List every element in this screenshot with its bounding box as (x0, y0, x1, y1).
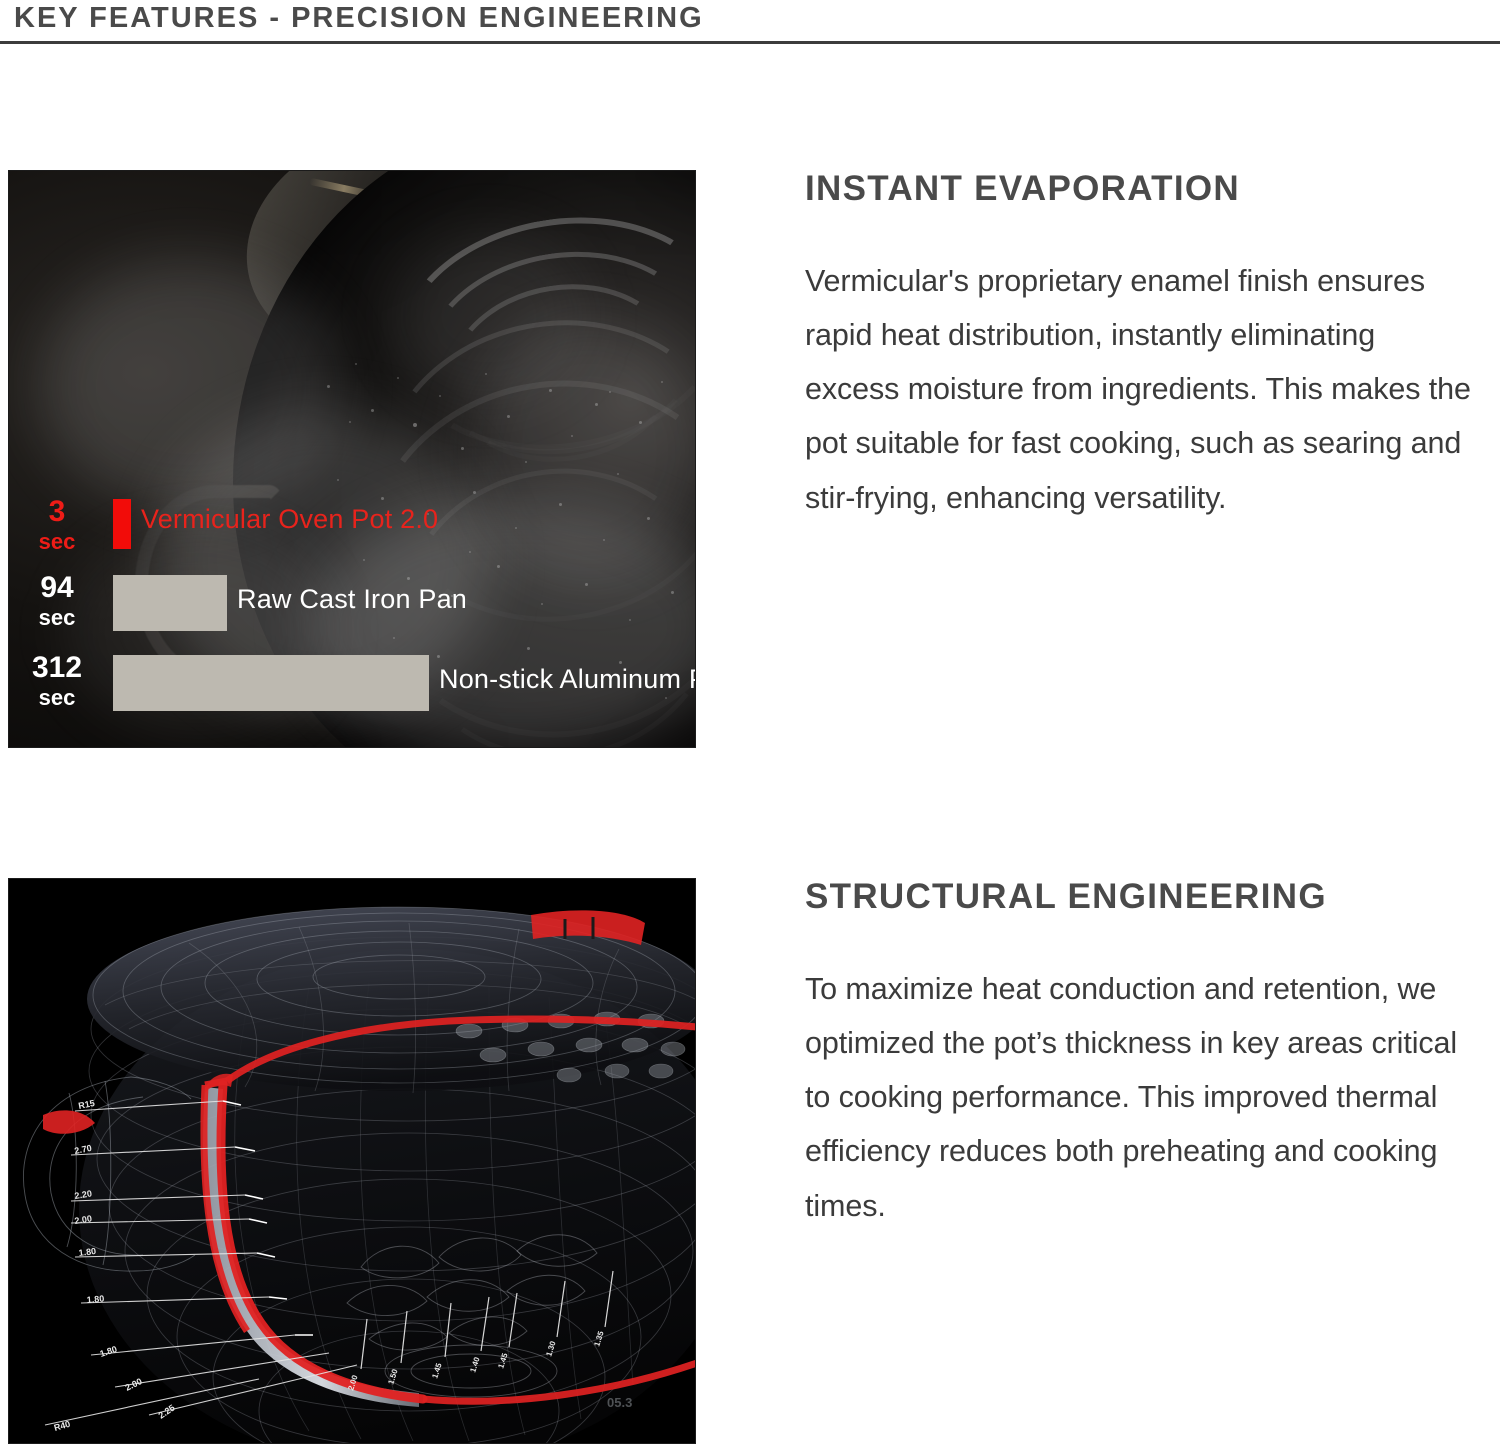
chart-bar-row: 3 sec Vermicular Oven Pot 2.0 (9, 493, 696, 555)
bar-value-label: 312 sec (9, 653, 105, 709)
water-droplet (355, 363, 357, 365)
bar-fill (113, 575, 227, 631)
feature-image-cad-wireframe: R15 2.70 2.20 2.00 1.80 1.80 1.80 2.00 2… (8, 878, 696, 1444)
feature-page: KEY FEATURES - PRECISION ENGINEERING (0, 0, 1500, 1444)
cad-scene: R15 2.70 2.20 2.00 1.80 1.80 1.80 2.00 2… (9, 879, 695, 1443)
feature-image-steaming-pot: 3 sec Vermicular Oven Pot 2.0 94 sec (8, 170, 696, 748)
water-droplet (371, 409, 374, 412)
water-droplet (397, 377, 399, 379)
section-heading: INSTANT EVAPORATION (805, 170, 1477, 209)
water-droplet (413, 423, 417, 427)
feature-section-instant-evaporation: 3 sec Vermicular Oven Pot 2.0 94 sec (0, 170, 1500, 750)
page-title: KEY FEATURES - PRECISION ENGINEERING (14, 2, 704, 35)
bar-value-number: 3 (9, 497, 105, 527)
page-header: KEY FEATURES - PRECISION ENGINEERING (0, 0, 1500, 48)
water-droplet (461, 447, 464, 450)
bar-value-unit: sec (9, 687, 105, 709)
bar-fill (113, 655, 429, 711)
svg-text:1.80: 1.80 (78, 1246, 97, 1258)
bar-value-unit: sec (9, 607, 105, 629)
steam-puff (389, 231, 589, 401)
bar-category-label: Vermicular Oven Pot 2.0 (141, 504, 438, 535)
section-heading: STRUCTURAL ENGINEERING (805, 878, 1477, 917)
cad-wireframe-svg: R15 2.70 2.20 2.00 1.80 1.80 1.80 2.00 2… (9, 879, 695, 1443)
bar-fill (113, 499, 131, 549)
chart-bar-row: 312 sec Non-stick Aluminum Pan (9, 653, 696, 715)
bar-value-unit: sec (9, 531, 105, 553)
bar-category-label: Raw Cast Iron Pan (237, 584, 467, 615)
water-droplet (439, 395, 441, 397)
chart-bar-row: 94 sec Raw Cast Iron Pan (9, 573, 696, 635)
svg-text:05.3: 05.3 (607, 1395, 632, 1410)
svg-text:1.80: 1.80 (86, 1294, 104, 1305)
bar-category-label: Non-stick Aluminum Pan (439, 664, 696, 695)
evaporation-time-bar-chart: 3 sec Vermicular Oven Pot 2.0 94 sec (9, 483, 696, 723)
bar-value-label: 94 sec (9, 573, 105, 629)
section-body-text: To maximize heat conduction and retentio… (805, 962, 1477, 1233)
bar-value-label: 3 sec (9, 497, 105, 553)
feature-text-structural-engineering: STRUCTURAL ENGINEERING To maximize heat … (805, 878, 1477, 1233)
feature-section-structural-engineering: R15 2.70 2.20 2.00 1.80 1.80 1.80 2.00 2… (0, 878, 1500, 1444)
bar-value-number: 312 (9, 653, 105, 683)
section-body-text: Vermicular's proprietary enamel finish e… (805, 254, 1477, 525)
bar-value-number: 94 (9, 573, 105, 603)
header-divider (0, 41, 1500, 44)
feature-text-instant-evaporation: INSTANT EVAPORATION Vermicular's proprie… (805, 170, 1477, 525)
